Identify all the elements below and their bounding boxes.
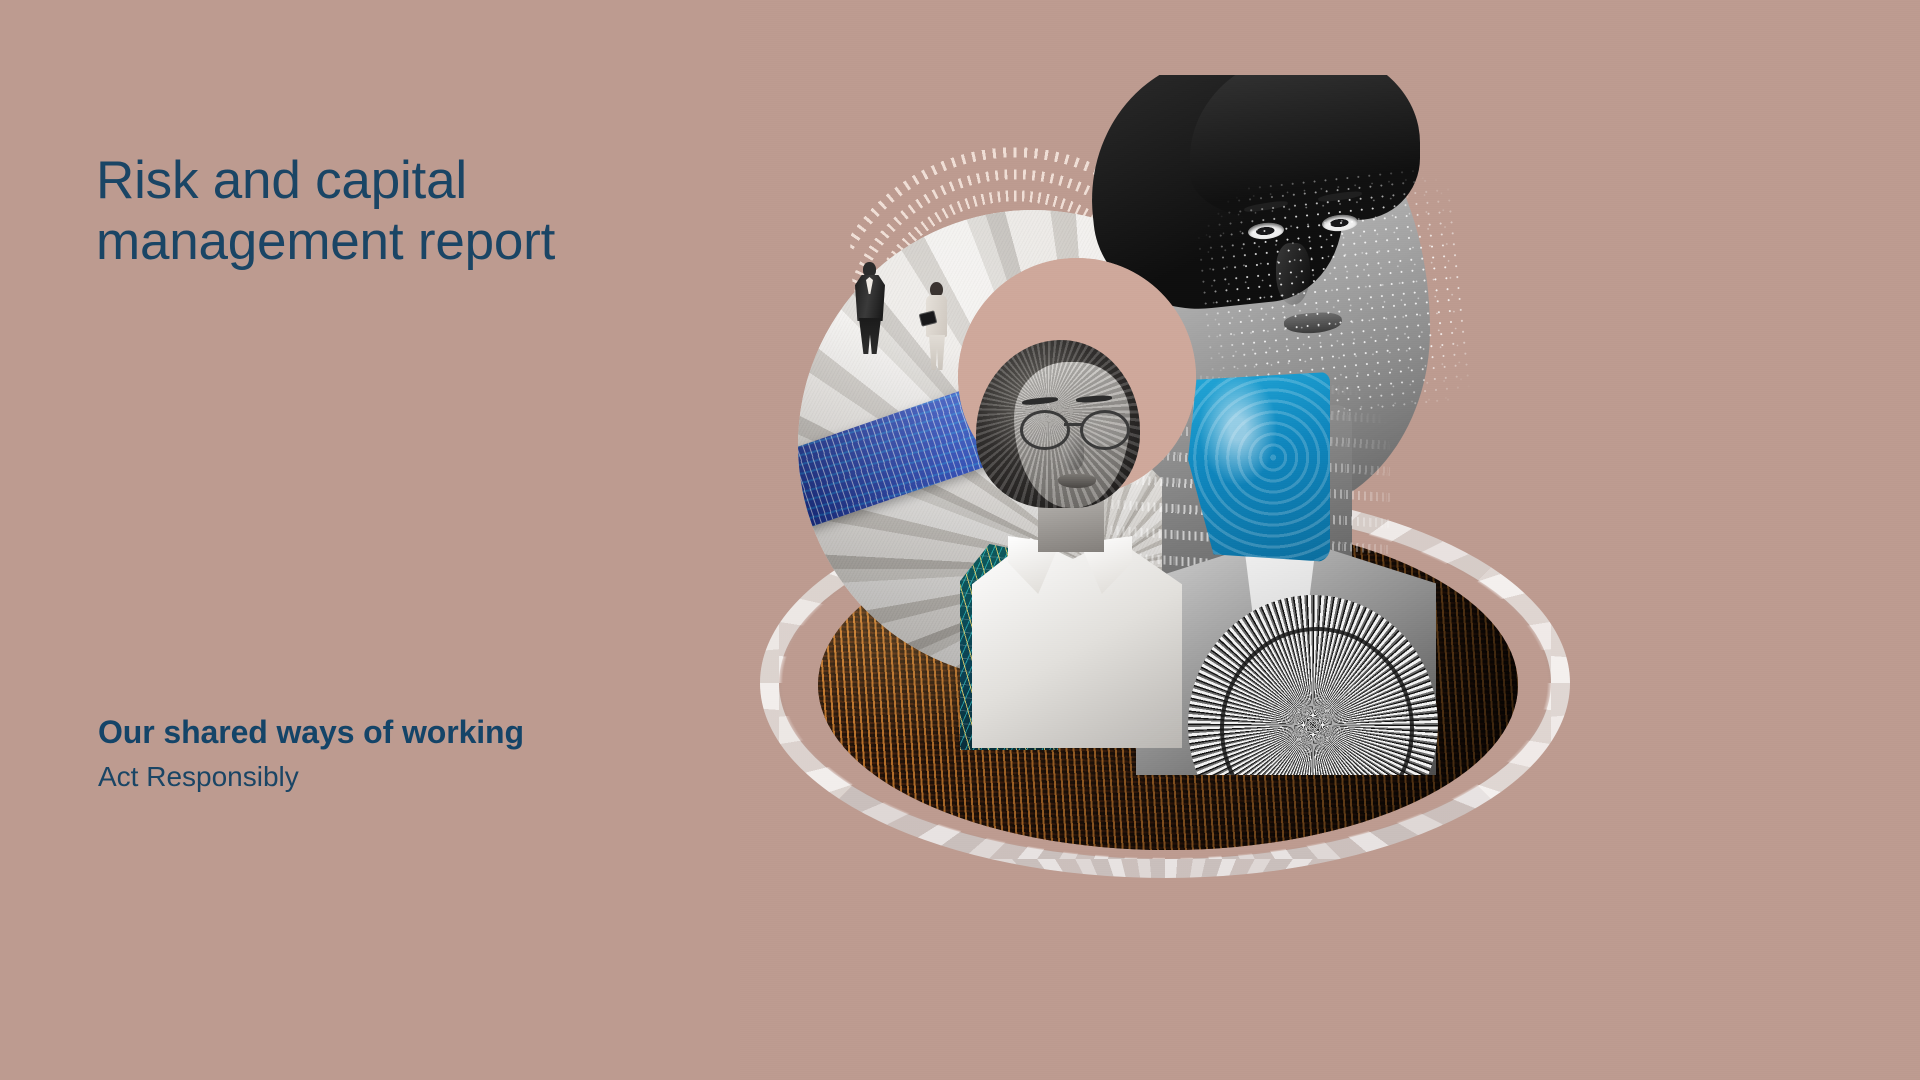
report-cover: Risk and capital management report Our s… [0, 0, 1920, 1080]
glasses-icon [1018, 410, 1134, 444]
portrait-lips [1058, 474, 1096, 488]
businesswoman-figure [920, 282, 954, 370]
white-shirt [972, 538, 1182, 748]
glasses-lens-left [1020, 410, 1070, 450]
ways-of-working-block: Our shared ways of working Act Responsib… [98, 712, 738, 796]
businesswoman-legs [929, 335, 945, 370]
page-title-line-2: management report [96, 211, 736, 272]
glasses-bridge [1064, 423, 1082, 426]
businessman-figure [850, 262, 890, 354]
portrait-with-glasses [952, 340, 1212, 740]
cover-collage-artwork [740, 0, 1920, 1080]
ways-of-working-subtitle: Act Responsibly [98, 758, 738, 796]
ways-of-working-title: Our shared ways of working [98, 712, 738, 752]
glasses-lens-right [1080, 410, 1130, 450]
businessman-legs [859, 318, 881, 354]
businessman-head [863, 262, 876, 277]
page-title: Risk and capital management report [96, 150, 736, 273]
page-title-line-1: Risk and capital [96, 150, 736, 211]
